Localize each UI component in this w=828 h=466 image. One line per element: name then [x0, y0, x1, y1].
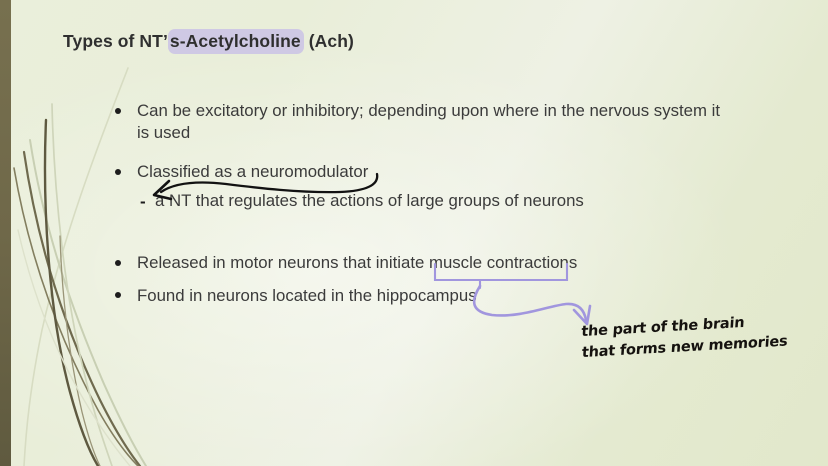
bullet-list: Can be excitatory or inhibitory; dependi…	[110, 100, 730, 306]
title-highlight: s-Acetylcholine	[168, 29, 304, 54]
list-item: Can be excitatory or inhibitory; dependi…	[110, 100, 730, 143]
dash-marker-icon: -	[140, 191, 146, 213]
slide-canvas: Types of NT’s-Acetylcholine (Ach) Can be…	[0, 0, 828, 466]
handwritten-note: the part of the brain that forms new mem…	[579, 310, 789, 364]
list-item: Released in motor neurons that initiate …	[110, 252, 730, 274]
bullet-text: Found in neurons located in the hippocam…	[137, 286, 477, 305]
bullet-dot-icon	[115, 169, 121, 175]
bullet-text: Released in motor neurons that initiate …	[137, 253, 577, 272]
bullet-dot-icon	[115, 260, 121, 266]
title-suffix: (Ach)	[304, 31, 354, 51]
sub-list-item: - a NT that regulates the actions of lar…	[155, 190, 730, 212]
bullet-text: Classified as a neuromodulator	[137, 162, 368, 181]
list-item: Classified as a neuromodulator	[110, 161, 730, 183]
bullet-dot-icon	[115, 108, 121, 114]
bullet-dot-icon	[115, 292, 121, 298]
title-prefix: Types of NT’	[63, 31, 168, 51]
left-accent-bar	[0, 0, 11, 466]
list-item: Found in neurons located in the hippocam…	[110, 285, 730, 307]
bullet-text: Can be excitatory or inhibitory; dependi…	[137, 101, 720, 142]
sub-bullet-text: a NT that regulates the actions of large…	[155, 191, 584, 210]
page-title: Types of NT’s-Acetylcholine (Ach)	[63, 31, 354, 52]
